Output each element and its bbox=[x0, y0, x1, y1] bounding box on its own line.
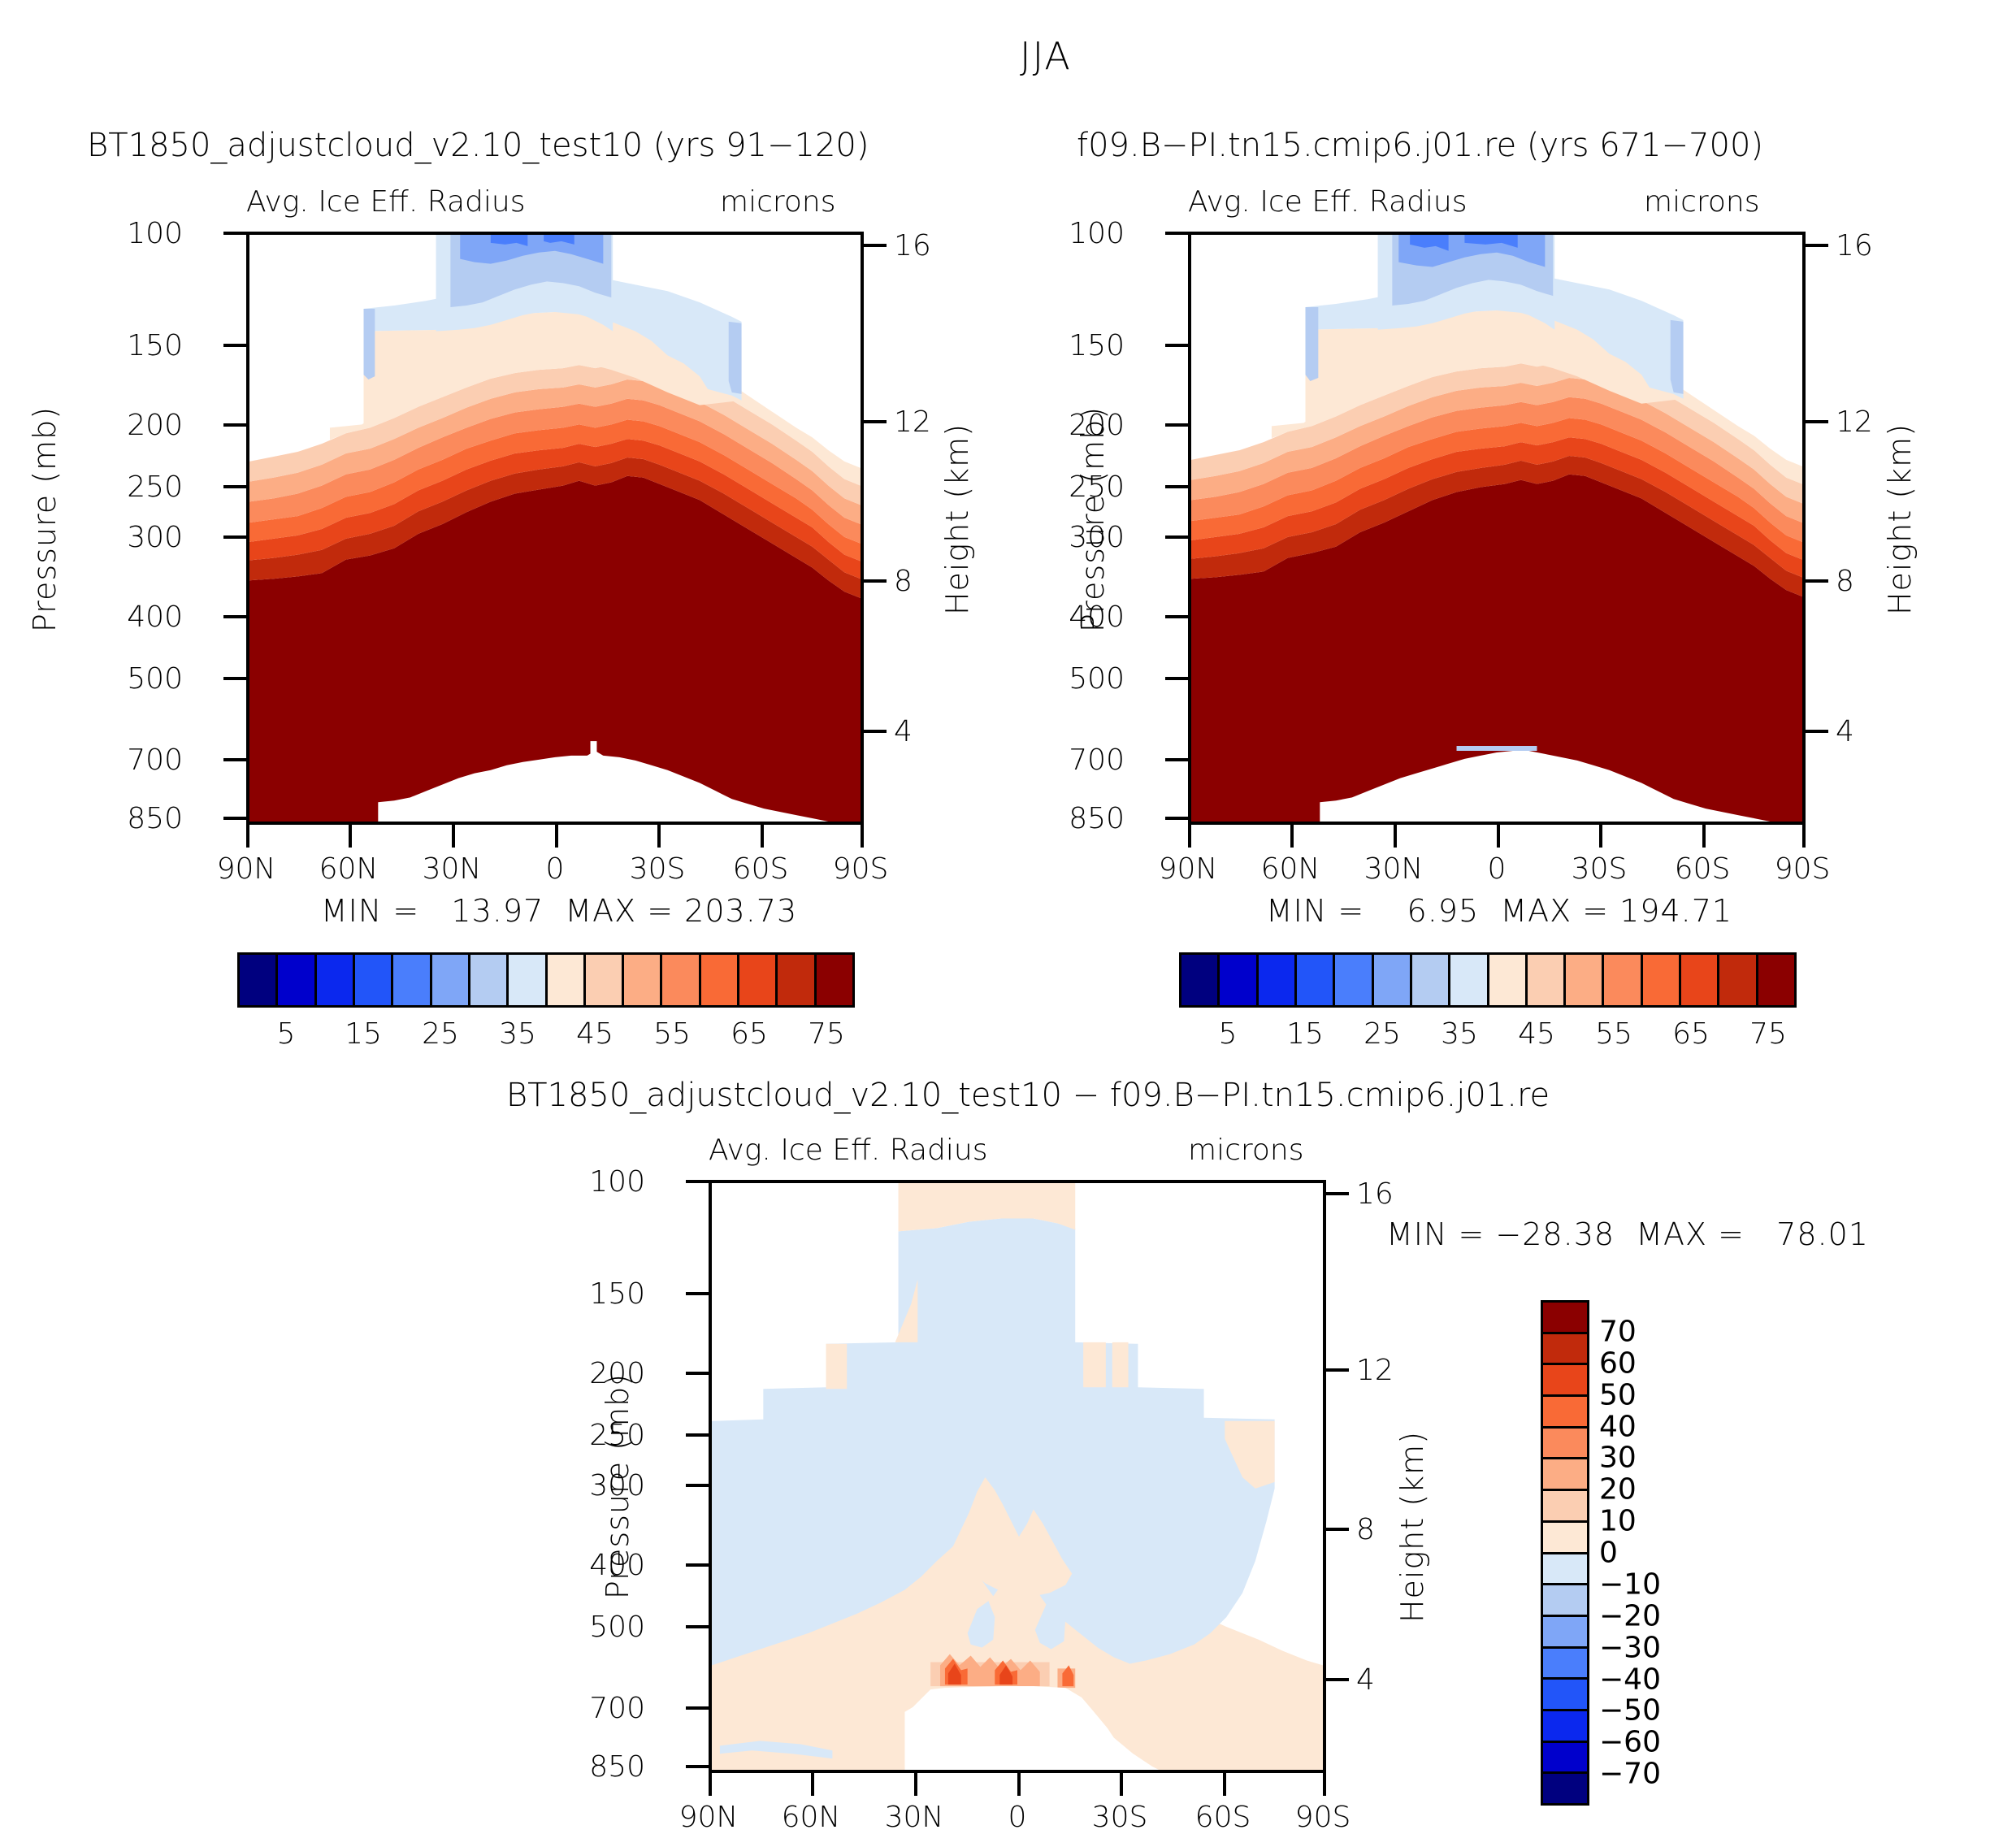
left-panel-ytick-label: 100 bbox=[127, 217, 183, 250]
right-colorbar-label: 75 bbox=[1749, 1017, 1787, 1051]
right-panel-ytick bbox=[1165, 535, 1188, 539]
right-panel-colorbar[interactable] bbox=[1179, 952, 1797, 1008]
colorbar-swatch[interactable] bbox=[1543, 1334, 1587, 1366]
colorbar-swatch[interactable] bbox=[1543, 1303, 1587, 1334]
colorbar-swatch[interactable] bbox=[1543, 1617, 1587, 1649]
left-panel-ytick-label: 700 bbox=[127, 744, 183, 777]
diff-panel-ytick-label: 400 bbox=[589, 1549, 645, 1582]
colorbar-tick-label: −50 bbox=[1599, 1694, 1661, 1728]
diff-panel-y2tick bbox=[1326, 1528, 1349, 1531]
right-panel-ytick bbox=[1165, 344, 1188, 347]
colorbar-swatch[interactable] bbox=[1643, 955, 1681, 1005]
right-panel-ytick bbox=[1165, 758, 1188, 761]
left-colorbar-label: 25 bbox=[422, 1017, 459, 1051]
right-panel-xtick bbox=[1394, 825, 1397, 848]
colorbar-swatch[interactable] bbox=[1181, 955, 1220, 1005]
right-panel-xtick-label: 90S bbox=[1775, 852, 1831, 886]
right-panel-plot[interactable] bbox=[1188, 232, 1806, 825]
right-panel-ytick-label: 250 bbox=[1069, 470, 1125, 504]
diff-panel-contour-field bbox=[712, 1183, 1323, 1770]
colorbar-swatch[interactable] bbox=[1450, 955, 1489, 1005]
diff-panel-ytick bbox=[686, 1563, 709, 1567]
left-panel-ytick-label: 400 bbox=[127, 600, 183, 634]
diff-panel-xtick bbox=[1120, 1773, 1123, 1796]
left-panel-ytick-label: 200 bbox=[127, 409, 183, 442]
right-panel-y2tick bbox=[1806, 420, 1828, 423]
left-panel-ytick bbox=[223, 535, 246, 539]
left-panel-xtick-label: 90N bbox=[217, 852, 276, 886]
right-colorbar-label: 45 bbox=[1518, 1017, 1555, 1051]
colorbar-tick-label: −70 bbox=[1599, 1758, 1661, 1791]
left-panel-xtick bbox=[761, 825, 764, 848]
right-panel-xtick bbox=[1188, 825, 1191, 848]
figure-root: JJA BT1850_adjustcloud_v2.10_test10 (yrs… bbox=[0, 0, 2016, 1826]
right-panel-ytick bbox=[1165, 232, 1188, 235]
left-panel-y2tick bbox=[864, 579, 887, 583]
left-colorbar-label: 55 bbox=[653, 1017, 691, 1051]
diff-panel-variable-label: Avg. Ice Eff. Radius bbox=[709, 1134, 987, 1167]
diff-panel-xtick bbox=[1323, 1773, 1326, 1796]
colorbar-swatch[interactable] bbox=[317, 955, 355, 1005]
left-colorbar-label: 75 bbox=[808, 1017, 845, 1051]
diff-panel-ytick bbox=[686, 1292, 709, 1295]
left-panel-ytick-label: 850 bbox=[127, 802, 183, 835]
colorbar-tick-label: −30 bbox=[1599, 1631, 1661, 1664]
diff-panel-xtick bbox=[914, 1773, 917, 1796]
colorbar-swatch[interactable] bbox=[1543, 1711, 1587, 1743]
left-panel-y2tick bbox=[864, 730, 887, 733]
right-panel-xtick bbox=[1497, 825, 1500, 848]
colorbar-swatch[interactable] bbox=[1543, 1680, 1587, 1711]
right-panel-ytick bbox=[1165, 423, 1188, 427]
colorbar-swatch[interactable] bbox=[1528, 955, 1566, 1005]
diff-panel-y2-axis-title: Height (km) bbox=[1394, 1389, 1430, 1665]
left-panel-xtick bbox=[657, 825, 661, 848]
left-panel-xtick bbox=[861, 825, 864, 848]
colorbar-swatch[interactable] bbox=[701, 955, 739, 1005]
left-panel-y2tick-label: 4 bbox=[894, 715, 913, 748]
right-panel-units-label: microns bbox=[1644, 185, 1759, 219]
colorbar-tick-label: −60 bbox=[1599, 1726, 1661, 1759]
left-panel-ytick-label: 150 bbox=[127, 329, 183, 362]
colorbar-swatch[interactable] bbox=[1543, 1429, 1587, 1460]
colorbar-swatch[interactable] bbox=[662, 955, 700, 1005]
colorbar-tick-label: −40 bbox=[1599, 1663, 1661, 1696]
left-panel-xtick bbox=[349, 825, 352, 848]
colorbar-swatch[interactable] bbox=[739, 955, 778, 1005]
left-colorbar-label: 15 bbox=[345, 1017, 382, 1051]
diff-panel-xtick bbox=[811, 1773, 814, 1796]
diff-panel-title: BT1850_adjustcloud_v2.10_test10 − f09.B−… bbox=[506, 1077, 1550, 1114]
right-colorbar-label: 25 bbox=[1364, 1017, 1401, 1051]
right-panel-y2tick bbox=[1806, 730, 1828, 733]
colorbar-swatch[interactable] bbox=[1719, 955, 1758, 1005]
diff-panel-ytick bbox=[686, 1765, 709, 1768]
colorbar-tick-label: 10 bbox=[1599, 1505, 1637, 1538]
diff-panel-xtick-label: 60N bbox=[782, 1801, 841, 1834]
right-panel-ytick-label: 700 bbox=[1069, 744, 1125, 777]
left-panel-ytick bbox=[223, 232, 246, 235]
right-colorbar-label: 35 bbox=[1441, 1017, 1478, 1051]
left-panel-xtick-label: 30S bbox=[630, 852, 686, 886]
left-panel-ytick bbox=[223, 677, 246, 680]
right-panel-xtick-label: 90N bbox=[1159, 852, 1218, 886]
colorbar-swatch[interactable] bbox=[1543, 1743, 1587, 1775]
left-panel-contour-field bbox=[249, 235, 861, 822]
diff-panel-xtick-label: 0 bbox=[1008, 1801, 1027, 1834]
diff-panel-ytick-label: 850 bbox=[589, 1750, 645, 1784]
colorbar-tick-label: 30 bbox=[1599, 1442, 1637, 1475]
right-panel-xtick bbox=[1290, 825, 1294, 848]
colorbar-swatch[interactable] bbox=[1681, 955, 1719, 1005]
right-panel-xtick-label: 30N bbox=[1364, 852, 1424, 886]
right-panel-xtick-label: 30S bbox=[1572, 852, 1628, 886]
diff-panel-y2tick-label: 4 bbox=[1356, 1663, 1375, 1697]
left-colorbar-label: 65 bbox=[731, 1017, 768, 1051]
left-panel-ytick-label: 300 bbox=[127, 521, 183, 554]
colorbar-swatch[interactable] bbox=[432, 955, 470, 1005]
left-panel-y2tick bbox=[864, 244, 887, 247]
colorbar-swatch[interactable] bbox=[586, 955, 624, 1005]
right-panel-y2tick bbox=[1806, 244, 1828, 247]
colorbar-swatch[interactable] bbox=[548, 955, 586, 1005]
colorbar-swatch[interactable] bbox=[1543, 1554, 1587, 1586]
left-panel-ytick bbox=[223, 485, 246, 488]
diff-panel-units-label: microns bbox=[1188, 1134, 1303, 1167]
right-panel-ytick bbox=[1165, 817, 1188, 820]
colorbar-tick-label: 20 bbox=[1599, 1473, 1637, 1507]
diff-panel-colorbar[interactable] bbox=[1541, 1300, 1589, 1806]
colorbar-swatch[interactable] bbox=[240, 955, 278, 1005]
right-panel-xtick bbox=[1802, 825, 1806, 848]
left-panel-xtick bbox=[452, 825, 455, 848]
right-panel-ytick-label: 850 bbox=[1069, 802, 1125, 835]
colorbar-swatch[interactable] bbox=[1335, 955, 1373, 1005]
left-panel-minmax: MIN = 13.97 MAX = 203.73 bbox=[321, 893, 797, 929]
left-panel-ytick bbox=[223, 615, 246, 618]
colorbar-swatch[interactable] bbox=[470, 955, 509, 1005]
diff-panel-y2tick-label: 12 bbox=[1356, 1354, 1394, 1387]
left-panel-plot[interactable] bbox=[246, 232, 864, 825]
left-colorbar-label: 45 bbox=[576, 1017, 613, 1051]
colorbar-swatch[interactable] bbox=[1543, 1459, 1587, 1491]
diff-panel-xtick-label: 90S bbox=[1295, 1801, 1351, 1834]
main-title: JJA bbox=[1020, 34, 1072, 78]
right-panel-variable-label: Avg. Ice Eff. Radius bbox=[1188, 185, 1467, 219]
colorbar-tick-label: 40 bbox=[1599, 1410, 1637, 1443]
right-colorbar-label: 65 bbox=[1672, 1017, 1710, 1051]
colorbar-swatch[interactable] bbox=[1543, 1523, 1587, 1554]
colorbar-swatch[interactable] bbox=[1758, 955, 1794, 1005]
left-panel-y2tick bbox=[864, 420, 887, 423]
right-panel-xtick-label: 0 bbox=[1488, 852, 1507, 886]
left-colorbar-label: 5 bbox=[277, 1017, 296, 1051]
left-panel-ytick bbox=[223, 423, 246, 427]
left-panel-title: BT1850_adjustcloud_v2.10_test10 (yrs 91−… bbox=[87, 127, 869, 164]
right-panel-ytick bbox=[1165, 615, 1188, 618]
right-colorbar-label: 5 bbox=[1219, 1017, 1238, 1051]
colorbar-swatch[interactable] bbox=[1220, 955, 1258, 1005]
left-panel-y-axis-title: Pressure (mb) bbox=[27, 381, 63, 657]
right-colorbar-label: 55 bbox=[1595, 1017, 1632, 1051]
colorbar-swatch[interactable] bbox=[355, 955, 393, 1005]
diff-panel-xtick-label: 90N bbox=[679, 1801, 739, 1834]
right-panel-ytick-label: 150 bbox=[1069, 329, 1125, 362]
colorbar-swatch[interactable] bbox=[624, 955, 662, 1005]
right-panel-contour-field bbox=[1191, 235, 1802, 822]
diff-panel-ytick bbox=[686, 1706, 709, 1710]
left-panel-colorbar[interactable] bbox=[237, 952, 855, 1008]
colorbar-swatch[interactable] bbox=[1604, 955, 1642, 1005]
left-colorbar-label: 35 bbox=[499, 1017, 536, 1051]
right-panel-xtick bbox=[1599, 825, 1602, 848]
right-panel-y2tick-label: 16 bbox=[1836, 229, 1873, 262]
colorbar-swatch[interactable] bbox=[817, 955, 852, 1005]
right-panel-y2tick-label: 4 bbox=[1836, 715, 1854, 748]
left-panel-ytick-label: 250 bbox=[127, 470, 183, 504]
diff-panel-ytick bbox=[686, 1180, 709, 1183]
left-panel-ytick bbox=[223, 344, 246, 347]
right-panel-ytick bbox=[1165, 677, 1188, 680]
colorbar-swatch[interactable] bbox=[1259, 955, 1297, 1005]
diff-panel-xtick bbox=[709, 1773, 712, 1796]
colorbar-swatch[interactable] bbox=[1543, 1585, 1587, 1617]
diff-panel-ytick-label: 700 bbox=[589, 1692, 645, 1725]
left-panel-xtick-label: 60N bbox=[319, 852, 379, 886]
colorbar-swatch[interactable] bbox=[278, 955, 316, 1005]
diff-panel-ytick-label: 300 bbox=[589, 1469, 645, 1502]
diff-panel-ytick-label: 250 bbox=[589, 1419, 645, 1452]
left-panel-xtick-label: 0 bbox=[546, 852, 565, 886]
right-panel-ytick bbox=[1165, 485, 1188, 488]
left-panel-xtick-label: 90S bbox=[833, 852, 889, 886]
diff-panel-ytick bbox=[686, 1484, 709, 1487]
diff-panel-ytick bbox=[686, 1372, 709, 1375]
colorbar-swatch[interactable] bbox=[1543, 1365, 1587, 1397]
diff-panel-ytick-label: 200 bbox=[589, 1357, 645, 1390]
colorbar-swatch[interactable] bbox=[1297, 955, 1335, 1005]
colorbar-tick-label: −10 bbox=[1599, 1567, 1661, 1601]
colorbar-tick-label: 0 bbox=[1599, 1537, 1618, 1570]
colorbar-tick-label: 70 bbox=[1599, 1315, 1637, 1348]
colorbar-tick-label: 60 bbox=[1599, 1346, 1637, 1380]
left-panel-ytick bbox=[223, 817, 246, 820]
colorbar-swatch[interactable] bbox=[1543, 1774, 1587, 1803]
diff-panel-xtick bbox=[1223, 1773, 1226, 1796]
right-panel-xtick-label: 60S bbox=[1675, 852, 1731, 886]
colorbar-tick-label: 50 bbox=[1599, 1378, 1637, 1411]
diff-panel-xtick-label: 60S bbox=[1195, 1801, 1251, 1834]
left-panel-y2tick-label: 12 bbox=[894, 405, 931, 439]
left-panel-xtick-label: 60S bbox=[733, 852, 789, 886]
right-panel-ytick-label: 500 bbox=[1069, 662, 1125, 696]
diff-panel-y2tick bbox=[1326, 1368, 1349, 1372]
left-panel-variable-label: Avg. Ice Eff. Radius bbox=[246, 185, 525, 219]
colorbar-swatch[interactable] bbox=[778, 955, 816, 1005]
diff-panel-colorbar-labels: 706050403020100−10−20−30−40−50−60−70 bbox=[1599, 1300, 1762, 1806]
diff-panel-ytick bbox=[686, 1625, 709, 1628]
colorbar-swatch[interactable] bbox=[1543, 1397, 1587, 1429]
diff-panel-xtick bbox=[1017, 1773, 1021, 1796]
diff-panel-minmax: MIN = −28.38 MAX = 78.01 bbox=[1386, 1216, 1869, 1252]
diff-panel-ytick bbox=[686, 1433, 709, 1437]
diff-panel-xtick-label: 30S bbox=[1092, 1801, 1148, 1834]
right-panel-y2tick-label: 8 bbox=[1836, 565, 1854, 598]
right-colorbar-label: 15 bbox=[1286, 1017, 1324, 1051]
left-panel-xtick-label: 30N bbox=[423, 852, 482, 886]
diff-panel-ytick-label: 500 bbox=[589, 1611, 645, 1644]
diff-panel-y2tick bbox=[1326, 1192, 1349, 1195]
right-panel-y2tick-label: 12 bbox=[1836, 405, 1873, 439]
left-panel-xtick bbox=[555, 825, 558, 848]
colorbar-tick-label: −20 bbox=[1599, 1599, 1661, 1632]
right-panel-xtick bbox=[1702, 825, 1706, 848]
colorbar-swatch[interactable] bbox=[1543, 1491, 1587, 1523]
diff-panel-ytick-label: 100 bbox=[589, 1165, 645, 1199]
left-panel-ytick-label: 500 bbox=[127, 662, 183, 696]
left-panel-y2tick-label: 8 bbox=[894, 565, 913, 598]
diff-panel-ytick-label: 150 bbox=[589, 1277, 645, 1311]
diff-panel-plot[interactable] bbox=[709, 1180, 1326, 1773]
diff-panel-y2tick bbox=[1326, 1678, 1349, 1681]
right-panel-ytick-label: 100 bbox=[1069, 217, 1125, 250]
left-panel-y2tick-label: 16 bbox=[894, 229, 931, 262]
right-panel-ytick-label: 300 bbox=[1069, 521, 1125, 554]
diff-panel-xtick-label: 30N bbox=[885, 1801, 944, 1834]
right-panel-y2tick bbox=[1806, 579, 1828, 583]
colorbar-swatch[interactable] bbox=[1566, 955, 1604, 1005]
colorbar-swatch[interactable] bbox=[1543, 1649, 1587, 1680]
left-panel-y2-axis-title: Height (km) bbox=[939, 381, 975, 657]
colorbar-swatch[interactable] bbox=[1489, 955, 1528, 1005]
right-panel-xtick-label: 60N bbox=[1261, 852, 1320, 886]
colorbar-swatch[interactable] bbox=[1374, 955, 1412, 1005]
right-panel-title: f09.B−PI.tn15.cmip6.j01.re (yrs 671−700) bbox=[1077, 127, 1763, 164]
left-panel-units-label: microns bbox=[720, 185, 835, 219]
right-panel-minmax: MIN = 6.95 MAX = 194.71 bbox=[1266, 893, 1732, 929]
diff-panel-y2tick-label: 16 bbox=[1356, 1177, 1394, 1211]
diff-panel-y2tick-label: 8 bbox=[1356, 1513, 1375, 1546]
right-panel-y2-axis-title: Height (km) bbox=[1882, 381, 1918, 657]
right-panel-ytick-label: 200 bbox=[1069, 409, 1125, 442]
left-panel-xtick bbox=[246, 825, 249, 848]
right-panel-ytick-label: 400 bbox=[1069, 600, 1125, 634]
left-panel-ytick bbox=[223, 758, 246, 761]
colorbar-swatch[interactable] bbox=[509, 955, 547, 1005]
colorbar-swatch[interactable] bbox=[1412, 955, 1450, 1005]
colorbar-swatch[interactable] bbox=[393, 955, 431, 1005]
